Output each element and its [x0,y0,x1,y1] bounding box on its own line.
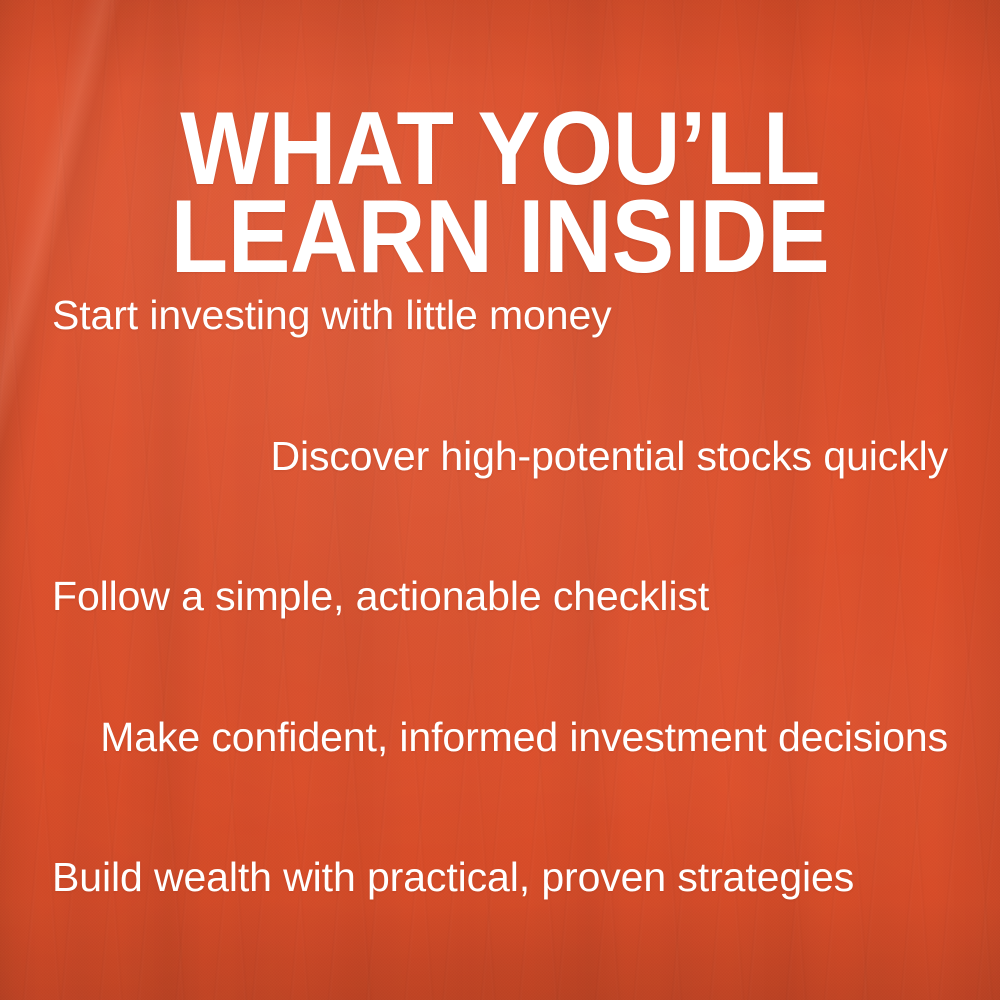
poster-content: WHAT YOU’LL LEARN INSIDE Start investing… [0,0,1000,1000]
poster-canvas: WHAT YOU’LL LEARN INSIDE Start investing… [0,0,1000,1000]
list-item-discover-stocks: Discover high-potential stocks quickly [270,434,948,480]
list-item-actionable-checklist: Follow a simple, actionable checklist [52,574,709,620]
list-item-informed-decisions: Make confident, informed investment deci… [100,715,948,761]
list-item-build-wealth: Build wealth with practical, proven stra… [52,855,854,901]
list-item-start-investing: Start investing with little money [52,293,612,339]
benefits-list: Start investing with little money Discov… [52,252,948,942]
